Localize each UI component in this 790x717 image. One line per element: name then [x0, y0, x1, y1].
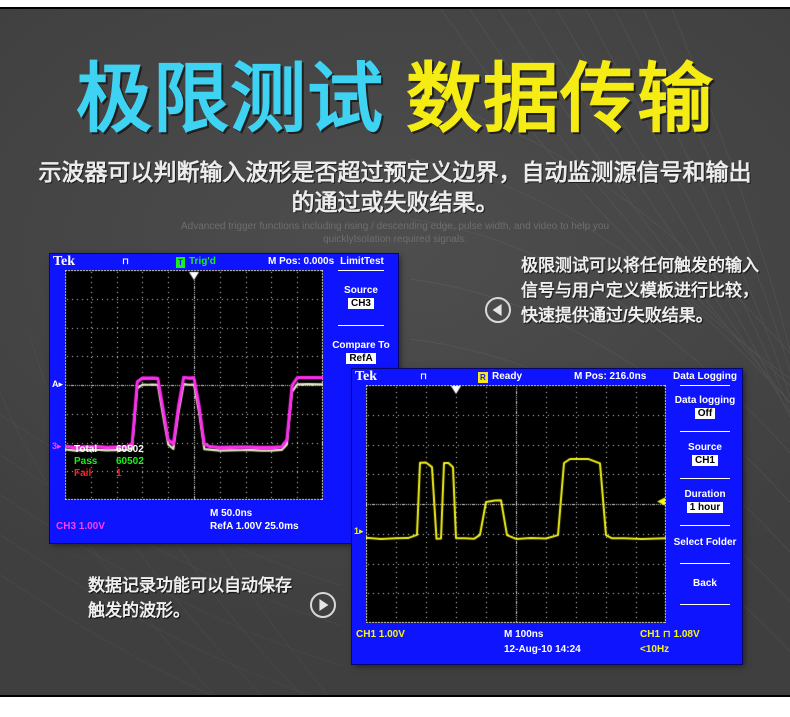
caption-bottom-left: 数据记录功能可以自动保存触发的波形。	[88, 573, 303, 623]
page-title-part2: 数据传输	[406, 57, 714, 142]
scope2-trigger-badge: R	[478, 372, 488, 383]
scope2-edge-marker-ch1: 1▸	[354, 527, 364, 536]
promo-banner: 极限测试数据传输 示波器可以判断输入波形是否超过预定义边界，自动监测源信号和输出…	[0, 7, 790, 697]
caption-arrow-left-icon	[485, 297, 511, 323]
scope1-brand-logo: Tek	[53, 254, 75, 269]
scope2-menu-value-data-logging: Off	[695, 408, 715, 419]
scope2-side-menu: Data logging Off Source CH1 Duration 1 h…	[668, 385, 742, 605]
scope1-side-menu: Source CH3 Compare To RefA	[326, 270, 396, 364]
scope2-menu-divider-5	[680, 604, 730, 605]
scope1-stat-pass: Pass60502	[74, 456, 144, 468]
scope2-menu-item-back[interactable]: Back	[668, 564, 742, 590]
scope2-footer: CH1 1.00V M 100ns 12-Aug-10 14:24 CH1 ⊓ …	[352, 627, 742, 664]
scope1-edge-marker-ch3: 3▸	[52, 442, 62, 451]
subtitle-english: Advanced trigger functions including ris…	[150, 220, 640, 246]
scope1-menu-label-compare-to: Compare To	[326, 340, 396, 352]
scope1-menu-value-compare-to: RefA	[346, 353, 375, 364]
scope2-topbar: Tek ⊓ R Ready M Pos: 216.0ns Data Loggin…	[352, 369, 742, 384]
scope2-brand-logo: Tek	[355, 369, 377, 384]
scope1-footer: CH3 1.00V M 50.0ns RefA 1.00V 25.0ms CH3…	[50, 507, 398, 543]
scope1-horizontal-position: M Pos: 0.000s	[268, 254, 334, 269]
scope2-menu-label-select-folder: Select Folder	[668, 536, 742, 549]
subtitle-chinese: 示波器可以判断输入波形是否超过预定义边界，自动监测源信号和输出的通过或失败结果。	[35, 157, 755, 217]
scope2-menu-value-source: CH1	[692, 455, 718, 466]
scope1-edge-marker-refA: A▸	[52, 380, 63, 389]
caption-arrow-right-icon	[310, 592, 336, 618]
scope1-menu-title: LimitTest	[328, 254, 396, 269]
scope2-footer-frequency: <10Hz	[640, 644, 669, 656]
caption-right: 极限测试可以将任何触发的输入信号与用户定义模板进行比较，快速提供通过/失败结果。	[521, 253, 771, 328]
scope1-trigger-badge: T	[176, 257, 185, 268]
scope1-footer-timebase: M 50.0ns	[210, 508, 252, 520]
oscilloscope-screen-datalogging: Tek ⊓ R Ready M Pos: 216.0ns Data Loggin…	[352, 369, 742, 664]
scope1-trigger-slope-icon: ⊓	[122, 254, 129, 269]
scope2-menu-item-data-logging[interactable]: Data logging Off	[668, 386, 742, 419]
scope2-footer-timebase: M 100ns	[504, 629, 543, 641]
scope2-menu-label-duration: Duration	[668, 489, 742, 501]
page-root: 极限测试数据传输 示波器可以判断输入波形是否超过预定义边界，自动监测源信号和输出…	[0, 0, 790, 717]
scope1-limit-test-stats: Total60502 Pass60502 Fail1	[74, 444, 144, 480]
scope2-trigger-slope-icon: ⊓	[420, 369, 427, 384]
scope1-menu-item-compare-to[interactable]: Compare To RefA	[326, 326, 396, 364]
scope1-footer-channel: CH3 1.00V	[56, 521, 105, 533]
scope1-menu-label-source: Source	[326, 285, 396, 297]
scope1-menu-item-source[interactable]: Source CH3	[326, 271, 396, 309]
page-title-part1: 极限测试	[76, 57, 384, 142]
scope2-menu-item-duration[interactable]: Duration 1 hour	[668, 479, 742, 513]
scope2-footer-datetime: 12-Aug-10 14:24	[504, 644, 581, 656]
scope1-stat-total: Total60502	[74, 444, 144, 456]
scope2-graticule	[366, 385, 666, 623]
scope2-footer-channel: CH1 1.00V	[356, 629, 405, 641]
scope1-topbar: Tek ⊓ T Trig'd M Pos: 0.000s LimitTest	[50, 254, 398, 269]
scope2-menu-title: Data Logging	[668, 369, 742, 384]
scope2-menu-label-back: Back	[668, 578, 742, 590]
scope2-menu-item-source[interactable]: Source CH1	[668, 432, 742, 466]
page-title: 极限测试数据传输	[0, 61, 790, 139]
scope1-footer-reference: RefA 1.00V 25.0ms	[210, 521, 299, 533]
oscilloscope-screen-limittest: Tek ⊓ T Trig'd M Pos: 0.000s LimitTest A…	[50, 254, 398, 543]
scope1-stat-fail: Fail1	[74, 468, 144, 480]
scope2-horizontal-position: M Pos: 216.0ns	[574, 369, 646, 384]
scope2-menu-label-data-logging: Data logging	[668, 395, 742, 407]
scope2-menu-label-source: Source	[668, 442, 742, 454]
scope2-trigger-state: Ready	[492, 369, 522, 384]
scope1-menu-value-source: CH3	[348, 298, 374, 309]
scope2-footer-trigger-channel: CH1 ⊓ 1.08V	[640, 629, 700, 641]
scope2-menu-item-select-folder[interactable]: Select Folder	[668, 526, 742, 549]
scope1-trigger-state: Trig'd	[189, 254, 216, 269]
scope2-menu-value-duration: 1 hour	[687, 502, 724, 513]
